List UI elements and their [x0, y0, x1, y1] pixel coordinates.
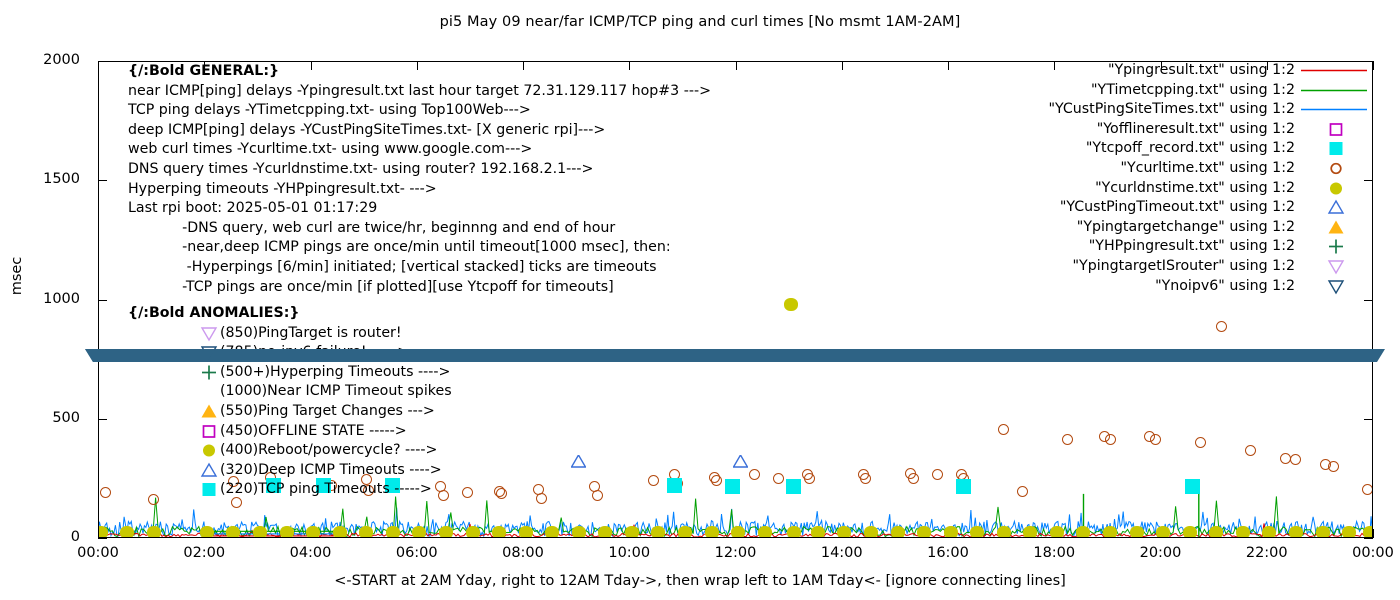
anomaly-label: (320)Deep ICMP Timeouts ---->: [220, 462, 442, 478]
legend-marker-line-icon: [1299, 100, 1373, 120]
legend-row: "YHPpingresult.txt" using 1:2: [980, 237, 1373, 257]
anomaly-item: (500+)Hyperping Timeouts ---->: [128, 363, 452, 383]
anomaly-item: (550)Ping Target Changes --->: [128, 402, 452, 422]
legend-label: "YHPpingresult.txt" using 1:2: [1089, 237, 1295, 257]
legend-marker-line-icon: [1299, 61, 1373, 81]
general-line: TCP ping delays -YTimetcpping.txt- using…: [128, 101, 711, 121]
y-tick-label: 500: [28, 410, 80, 426]
x-tick-label: 12:00: [696, 545, 776, 561]
anomaly-item: (450)OFFLINE STATE ----->: [128, 422, 452, 442]
legend-row: "Ynoipv6" using 1:2: [980, 277, 1373, 297]
legend-marker-circ-fill-icon: [1299, 179, 1373, 199]
legend-label: "Ynoipv6" using 1:2: [1155, 277, 1295, 297]
general-line: -Hyperpings [6/min] initiated; [vertical…: [128, 258, 711, 278]
anomaly-item: (320)Deep ICMP Timeouts ---->: [128, 461, 452, 481]
anomaly-item: (1000)Near ICMP Timeout spikes: [128, 382, 452, 402]
banner-left-notch: [85, 349, 215, 362]
general-line: near ICMP[ping] delays -Ypingresult.txt …: [128, 82, 711, 102]
legend: "Ypingresult.txt" using 1:2"YTimetcpping…: [980, 61, 1373, 296]
x-tick-label: 00:00: [1333, 545, 1400, 561]
anomaly-marker-tri-up-fill-icon: [198, 402, 220, 422]
y-axis-label: msec: [9, 246, 25, 306]
legend-marker-tri-up-fill-icon: [1299, 218, 1373, 238]
x-tick-label: 14:00: [802, 545, 882, 561]
anomaly-item: (400)Reboot/powercycle? ---->: [128, 441, 452, 461]
general-line: Last rpi boot: 2025-05-01 01:17:29: [128, 199, 711, 219]
anomaly-label: (500+)Hyperping Timeouts ---->: [220, 364, 450, 380]
legend-label: "Ytcpoff_record.txt" using 1:2: [1086, 139, 1295, 159]
general-line: DNS query times -Ycurldnstime.txt- using…: [128, 160, 711, 180]
anomalies-annotation-block: {/:Bold ANOMALIES:}(850)PingTarget is ro…: [128, 304, 452, 500]
chart-title: pi5 May 09 near/far ICMP/TCP ping and cu…: [0, 14, 1400, 30]
x-tick-label: 22:00: [1227, 545, 1307, 561]
x-tick-mark-top: [1373, 61, 1374, 70]
legend-label: "YCustPingTimeout.txt" using 1:2: [1060, 198, 1295, 218]
anomalies-heading: {/:Bold ANOMALIES:}: [128, 304, 452, 324]
anomaly-label: (1000)Near ICMP Timeout spikes: [220, 383, 452, 399]
y-tick-label: 2000: [28, 52, 80, 68]
y-tick-mark-right: [1364, 538, 1373, 539]
legend-marker-sq-fill-icon: [1299, 139, 1373, 159]
general-annotation-block: {/:Bold GENERAL:}near ICMP[ping] delays …: [128, 62, 711, 297]
general-line: deep ICMP[ping] delays -YCustPingSiteTim…: [128, 121, 711, 141]
legend-marker-plus-icon: [1299, 237, 1373, 257]
x-tick-label: 02:00: [164, 545, 244, 561]
general-line: -near,deep ICMP pings are once/min until…: [128, 238, 711, 258]
legend-label: "YTimetcpping.txt" using 1:2: [1091, 81, 1295, 101]
general-line: -TCP pings are once/min [if plotted][use…: [128, 278, 711, 298]
legend-label: "Ypingtargetchange" using 1:2: [1077, 218, 1295, 238]
anomaly-label: (850)PingTarget is router!: [220, 325, 402, 341]
selection-banner-overlay: [85, 349, 1385, 362]
x-tick-label: 06:00: [377, 545, 457, 561]
x-tick-label: 18:00: [1014, 545, 1094, 561]
legend-row: "Ycurltime.txt" using 1:2: [980, 159, 1373, 179]
anomaly-marker-circ-fill-icon: [198, 441, 220, 461]
x-tick-label: 04:00: [271, 545, 351, 561]
legend-label: "Ycurldnstime.txt" using 1:2: [1095, 179, 1295, 199]
x-tick-label: 00:00: [58, 545, 138, 561]
legend-row: "YTimetcpping.txt" using 1:2: [980, 81, 1373, 101]
anomaly-item: (850)PingTarget is router!: [128, 324, 452, 344]
legend-row: "YpingtargetISrouter" using 1:2: [980, 257, 1373, 277]
legend-row: "YCustPingTimeout.txt" using 1:2: [980, 198, 1373, 218]
y-tick-label: 0: [28, 529, 80, 545]
anomaly-label: (220)TCP ping Timeouts ----->: [220, 481, 432, 497]
x-tick-label: 10:00: [589, 545, 669, 561]
legend-row: "YCustPingSiteTimes.txt" using 1:2: [980, 100, 1373, 120]
legend-marker-line-icon: [1299, 81, 1373, 101]
legend-marker-sq-open-icon: [1299, 120, 1373, 140]
x-tick-mark: [1373, 529, 1374, 538]
anomaly-marker-sq-fill-icon: [198, 480, 220, 500]
anomaly-label: (450)OFFLINE STATE ----->: [220, 423, 407, 439]
legend-marker-circ-open-icon: [1299, 159, 1373, 179]
general-line: Hyperping timeouts -YHPpingresult.txt- -…: [128, 180, 711, 200]
general-heading: {/:Bold GENERAL:}: [128, 62, 711, 82]
x-tick-label: 08:00: [483, 545, 563, 561]
anomaly-label: (400)Reboot/powercycle? ---->: [220, 442, 437, 458]
legend-row: "Ycurldnstime.txt" using 1:2: [980, 179, 1373, 199]
legend-row: "Ytcpoff_record.txt" using 1:2: [980, 139, 1373, 159]
legend-marker-tri-down-open-icon: [1299, 277, 1373, 297]
chart-root: pi5 May 09 near/far ICMP/TCP ping and cu…: [0, 0, 1400, 600]
general-line: -DNS query, web curl are twice/hr, begin…: [128, 219, 711, 239]
legend-label: "YCustPingSiteTimes.txt" using 1:2: [1048, 100, 1295, 120]
general-line: web curl times -Ycurltime.txt- using www…: [128, 140, 711, 160]
legend-label: "YpingtargetISrouter" using 1:2: [1073, 257, 1295, 277]
legend-row: "Ypingtargetchange" using 1:2: [980, 218, 1373, 238]
anomaly-label: (550)Ping Target Changes --->: [220, 403, 435, 419]
legend-label: "Yofflineresult.txt" using 1:2: [1097, 120, 1295, 140]
x-tick-label: 16:00: [908, 545, 988, 561]
legend-marker-tri-down-open-icon: [1299, 257, 1373, 277]
y-tick-label: 1000: [28, 291, 80, 307]
legend-label: "Ypingresult.txt" using 1:2: [1108, 61, 1295, 81]
anomaly-item: (220)TCP ping Timeouts ----->: [128, 480, 452, 500]
legend-label: "Ycurltime.txt" using 1:2: [1120, 159, 1295, 179]
anomaly-marker-plus-icon: [198, 363, 220, 383]
legend-marker-tri-up-open-icon: [1299, 198, 1373, 218]
x-axis-label: <-START at 2AM Yday, right to 12AM Tday-…: [0, 573, 1400, 589]
anomaly-marker-sq-open-icon: [198, 422, 220, 442]
anomaly-marker-tri-down-open-icon: [198, 324, 220, 344]
y-tick-label: 1500: [28, 171, 80, 187]
y-tick-mark: [98, 538, 107, 539]
legend-row: "Ypingresult.txt" using 1:2: [980, 61, 1373, 81]
anomaly-marker-tri-up-open-icon: [198, 461, 220, 481]
legend-row: "Yofflineresult.txt" using 1:2: [980, 120, 1373, 140]
x-tick-label: 20:00: [1121, 545, 1201, 561]
